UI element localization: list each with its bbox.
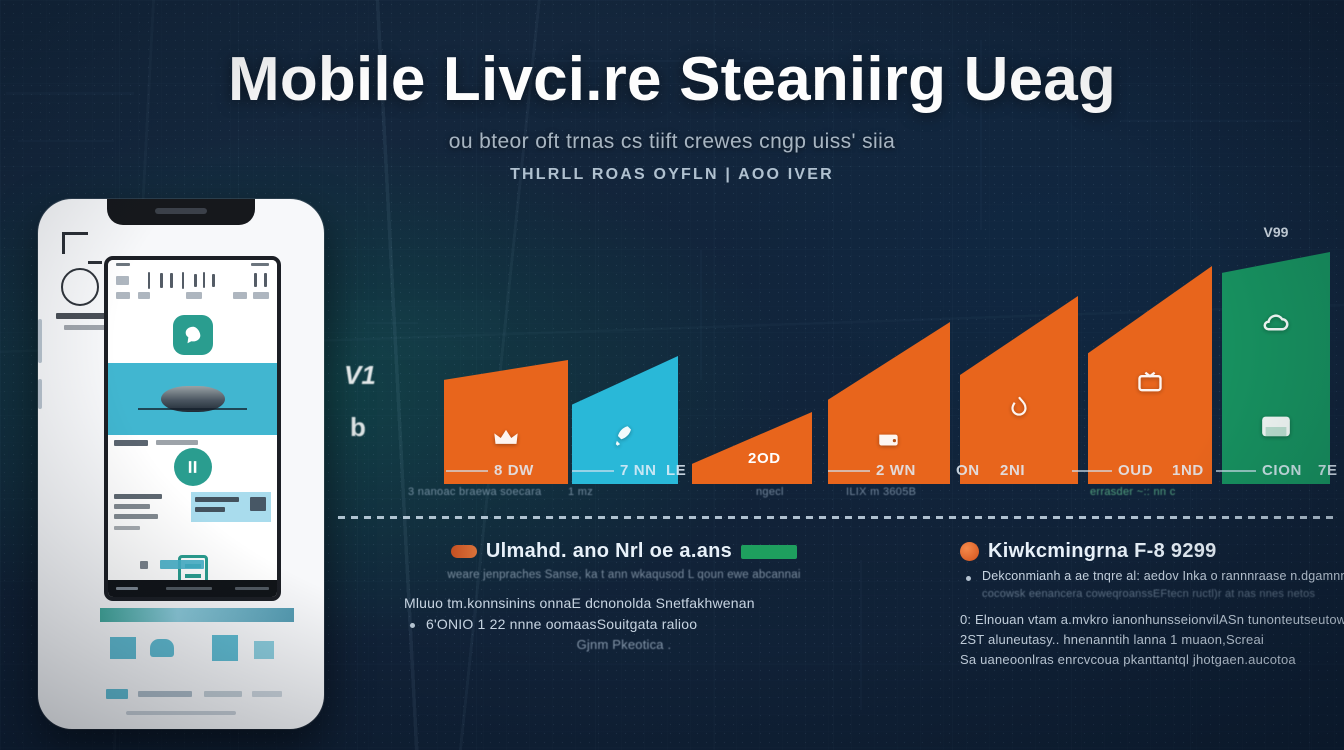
- infographic-poster: Mobile Livci.re Steaniirg Ueag ou bteor …: [0, 0, 1344, 750]
- vignette-overlay: [0, 0, 1344, 750]
